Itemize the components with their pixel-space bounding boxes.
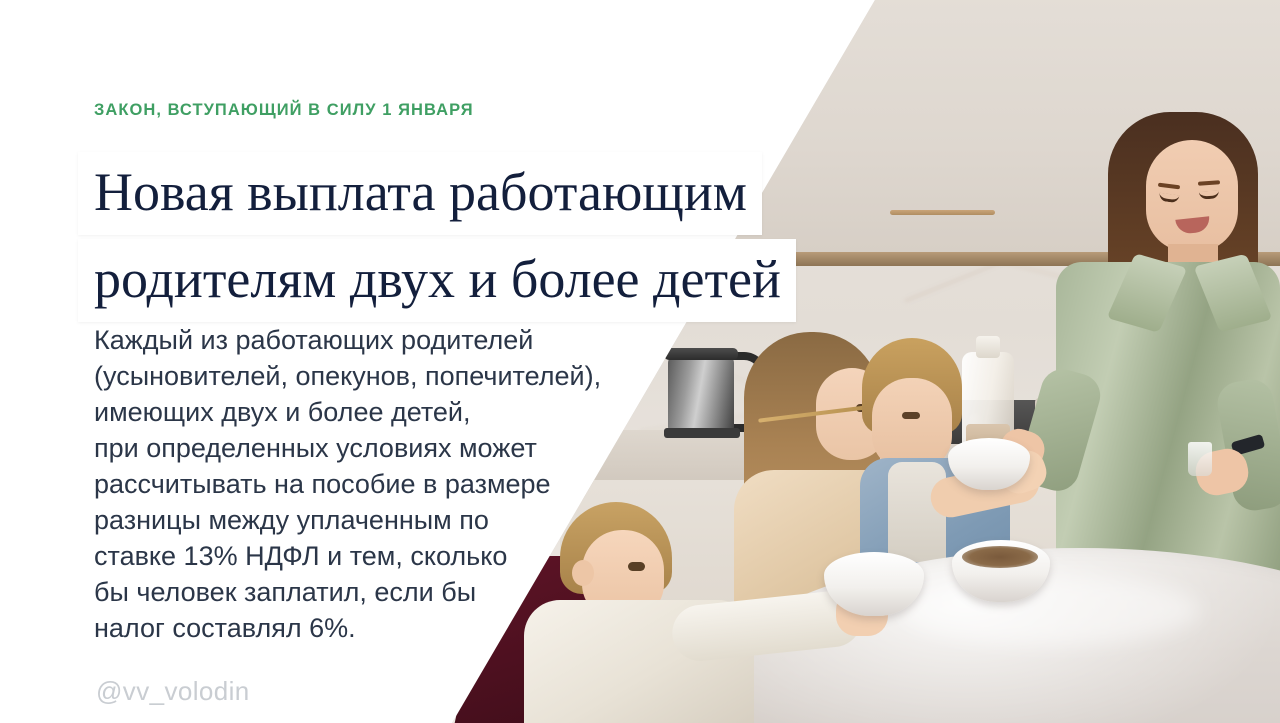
kettle-base xyxy=(664,428,740,438)
drinking-glass xyxy=(1188,442,1212,476)
headline-line-1: Новая выплата работающим xyxy=(78,152,762,235)
boy-eye xyxy=(902,412,920,419)
account-watermark: @vv_volodin xyxy=(96,676,250,707)
toddler-eye xyxy=(628,562,645,571)
body-paragraph: Каждый из работающих родителей (усыновит… xyxy=(94,322,601,646)
bottle-neck xyxy=(976,336,1000,358)
infographic-card: ЗАКОН, ВСТУПАЮЩИЙ В СИЛУ 1 ЯНВАРЯ Новая … xyxy=(0,0,1280,723)
kettle-lid xyxy=(664,348,738,360)
headline-line-2: родителям двух и более детей xyxy=(78,239,796,322)
electric-kettle xyxy=(668,356,734,432)
eyebrow-label: ЗАКОН, ВСТУПАЮЩИЙ В СИЛУ 1 ЯНВАРЯ xyxy=(94,101,474,120)
cabinet-handle xyxy=(890,210,995,215)
boy-face xyxy=(872,378,952,470)
table-reflection xyxy=(900,575,1200,645)
headline: Новая выплата работающим родителям двух … xyxy=(78,152,796,322)
cereal-contents xyxy=(962,546,1038,568)
